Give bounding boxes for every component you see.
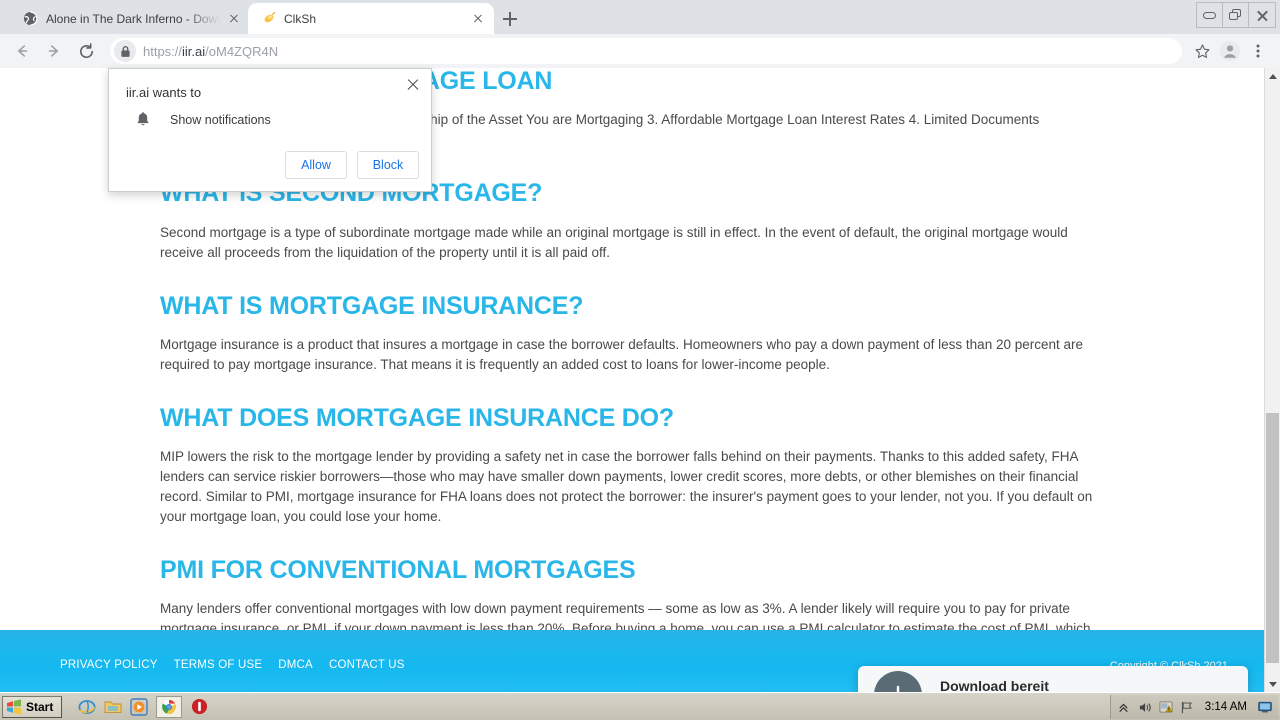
avatar-icon [1219,40,1241,62]
browser-window: Alone in The Dark Inferno - Downloa ClkS… [0,0,1280,692]
clock[interactable]: 3:14 AM [1205,701,1247,713]
reload-button[interactable] [72,37,100,65]
permission-label: Show notifications [170,113,271,127]
security-alert-icon[interactable] [1159,700,1173,714]
download-toast[interactable]: Download bereit Zum Fortfahren anklicken [858,666,1248,692]
url-host: iir.ai [182,44,205,59]
address-bar[interactable]: https://iir.ai/oM4ZQR4N [110,38,1182,64]
footer-link-terms-of-use[interactable]: TERMS OF USE [174,659,263,671]
restore-icon [1229,9,1242,21]
browser-toolbar: https://iir.ai/oM4ZQR4N [0,34,1280,68]
forward-arrow-icon [45,42,63,60]
three-dot-menu-icon [1250,43,1266,59]
permission-request-row: Show notifications [134,111,271,129]
permission-actions: Allow Block [285,151,419,179]
block-button[interactable]: Block [357,151,419,179]
show-desktop-icon[interactable] [1258,700,1272,714]
windows-taskbar: Start [0,692,1280,720]
url-text: https://iir.ai/oM4ZQR4N [143,44,278,59]
bookmark-button[interactable] [1188,37,1216,65]
comet-icon [260,11,276,27]
footer-links: PRIVACY POLICY TERMS OF USE DMCA CONTACT… [60,659,405,671]
minimize-button[interactable] [1197,3,1223,27]
scrollbar-thumb[interactable] [1266,413,1279,663]
star-icon [1194,43,1211,60]
quick-launch-bar [78,696,208,718]
back-button[interactable] [8,37,36,65]
flag-icon[interactable] [1180,700,1194,714]
bell-icon [134,111,152,129]
restore-button[interactable] [1223,3,1249,27]
close-icon [1256,9,1269,22]
chrome-menu-button[interactable] [1244,37,1272,65]
allow-button[interactable]: Allow [285,151,347,179]
close-icon[interactable] [226,11,242,27]
start-label: Start [26,700,53,714]
notification-permission-bubble: iir.ai wants to Show notifications Allow… [108,68,432,192]
system-tray: 3:14 AM [1110,695,1278,719]
tab-alone-in-the-dark[interactable]: Alone in The Dark Inferno - Downloa [10,3,250,34]
page-scrollbar[interactable] [1264,68,1280,692]
section-body: Mortgage insurance is a product that ins… [160,335,1100,375]
globe-icon [22,11,38,27]
section-mortgage-insurance: WHAT IS MORTGAGE INSURANCE? Mortgage ins… [160,293,1104,375]
tab-title: Alone in The Dark Inferno - Downloa [46,12,220,26]
footer-link-dmca[interactable]: DMCA [278,659,313,671]
profile-button[interactable] [1216,37,1244,65]
close-icon[interactable] [403,75,423,95]
section-heading: WHAT IS MORTGAGE INSURANCE? [160,293,1104,319]
download-toast-text: Download bereit Zum Fortfahren anklicken [940,678,1087,692]
stop-record-icon[interactable] [190,698,208,716]
new-tab-button[interactable] [498,7,522,31]
section-body: MIP lowers the risk to the mortgage lend… [160,447,1100,527]
lock-icon[interactable] [114,40,136,62]
section-heading: PMI FOR CONVENTIONAL MORTGAGES [160,557,1104,583]
footer-link-privacy-policy[interactable]: PRIVACY POLICY [60,659,158,671]
tab-clksh[interactable]: ClkSh [248,3,494,34]
download-arrow-icon [874,671,922,692]
scroll-up-arrow-icon[interactable] [1265,68,1280,84]
screen: Alone in The Dark Inferno - Downloa ClkS… [0,0,1280,720]
section-heading: WHAT DOES MORTGAGE INSURANCE DO? [160,405,1104,431]
section-body: Second mortgage is a type of subordinate… [160,223,1100,263]
forward-button[interactable] [40,37,68,65]
scroll-down-arrow-icon[interactable] [1265,676,1280,692]
section-insurance-do: WHAT DOES MORTGAGE INSURANCE DO? MIP low… [160,405,1104,527]
internet-explorer-icon[interactable] [78,698,96,716]
start-button[interactable]: Start [2,696,62,718]
file-explorer-icon[interactable] [104,698,122,716]
close-icon[interactable] [470,11,486,27]
permission-title: iir.ai wants to [126,85,201,100]
footer-link-contact-us[interactable]: CONTACT US [329,659,405,671]
show-hidden-icons-icon[interactable] [1117,700,1131,714]
windows-logo-icon [6,699,22,715]
close-window-button[interactable] [1249,3,1275,27]
section-second-mortgage: WHAT IS SECOND MORTGAGE? Second mortgage… [160,180,1104,262]
reload-icon [77,42,96,61]
tab-strip: Alone in The Dark Inferno - Downloa ClkS… [0,0,1280,34]
chrome-icon[interactable] [156,696,182,718]
window-controls [1196,2,1276,28]
back-arrow-icon [13,42,31,60]
minimize-icon [1203,12,1216,19]
volume-icon[interactable] [1138,700,1152,714]
media-player-icon[interactable] [130,698,148,716]
download-toast-title: Download bereit [940,678,1087,692]
tab-title: ClkSh [284,12,464,26]
